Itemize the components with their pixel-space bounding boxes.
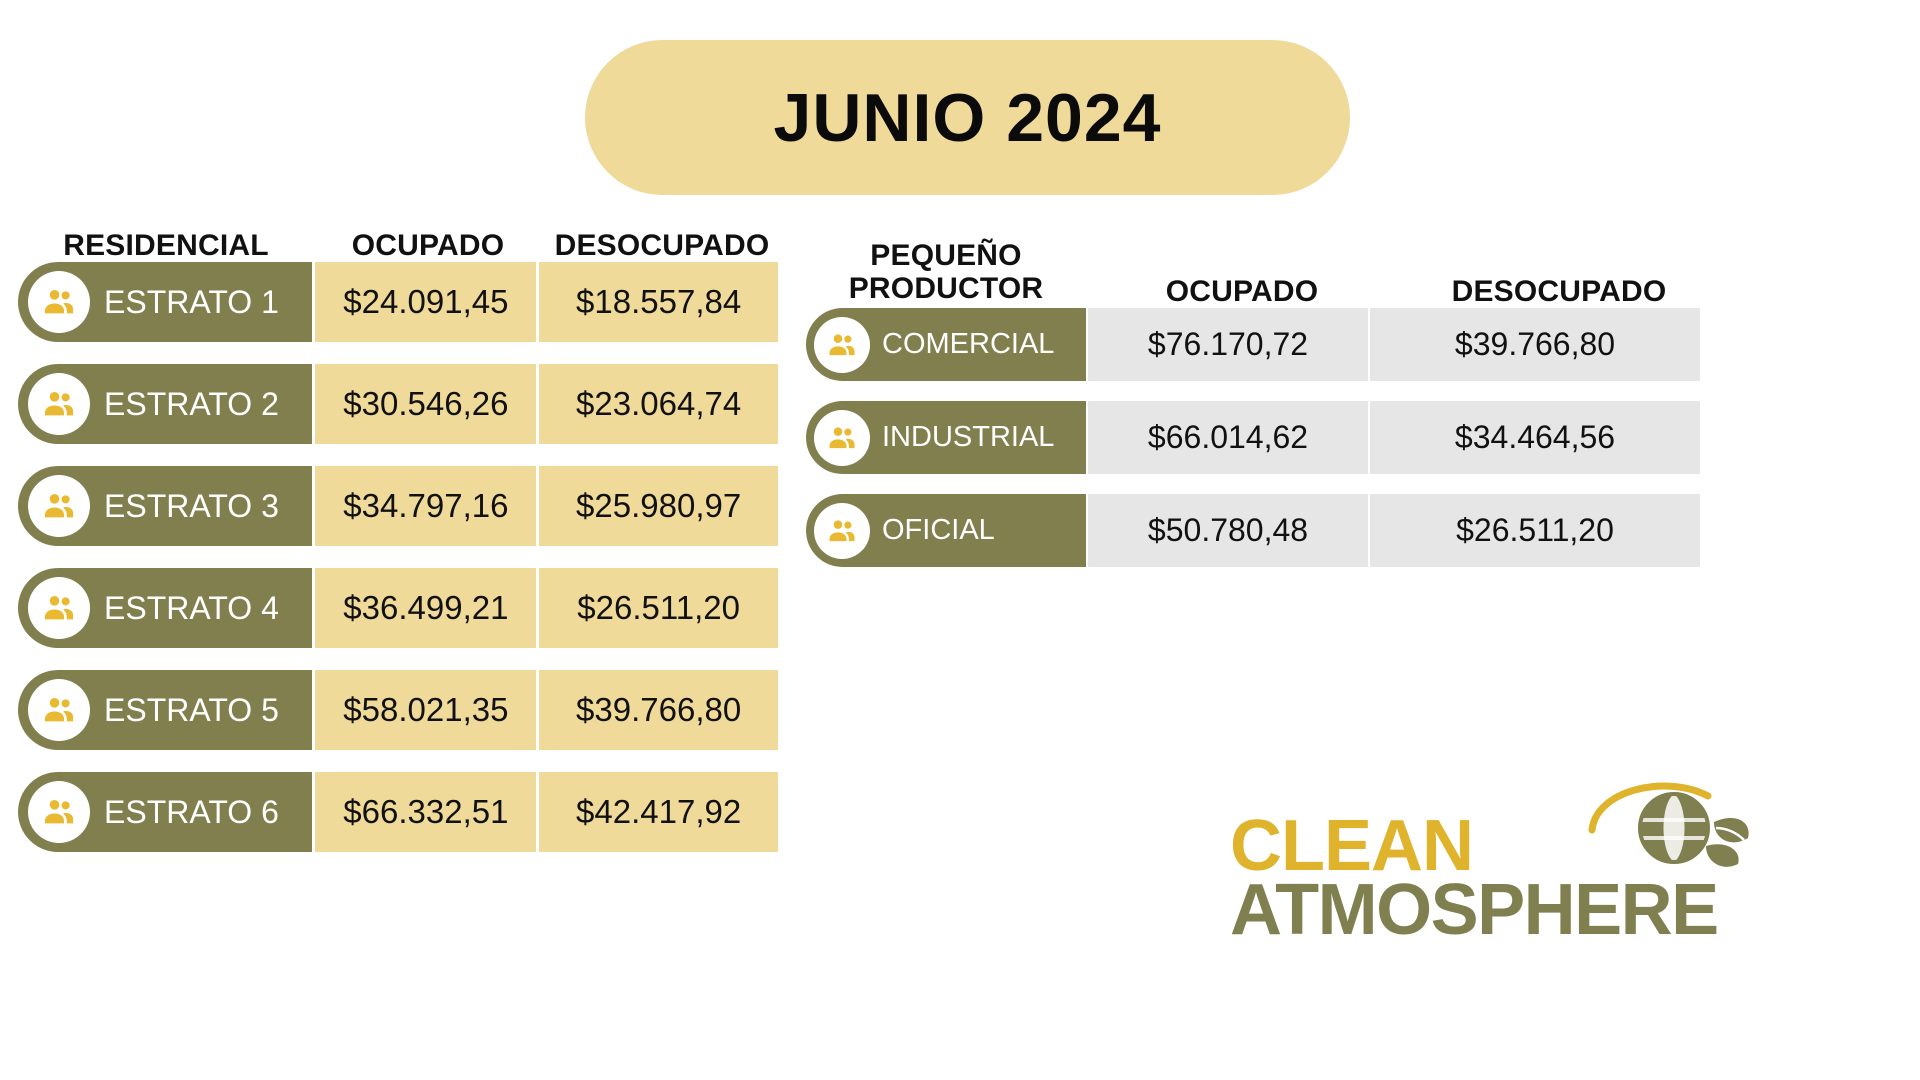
residential-table: RESIDENCIAL OCUPADO DESOCUPADO ESTRATO 1… xyxy=(18,198,778,874)
desocupado-value: $18.557,84 xyxy=(539,262,778,342)
ocupado-value: $24.091,45 xyxy=(315,262,536,342)
row-label-pill[interactable]: OFICIAL xyxy=(806,494,1086,567)
users-icon xyxy=(28,679,90,741)
header-desocupado-right: DESOCUPADO xyxy=(1394,276,1724,308)
table-row[interactable]: OFICIAL $50.780,48 $26.511,20 xyxy=(806,494,1904,567)
ocupado-value: $50.780,48 xyxy=(1088,494,1368,567)
row-label-pill[interactable]: ESTRATO 1 xyxy=(18,262,312,342)
row-label: ESTRATO 3 xyxy=(90,488,312,525)
users-icon xyxy=(814,503,870,559)
table-row[interactable]: ESTRATO 5 $58.021,35 $39.766,80 xyxy=(18,670,778,750)
row-label-pill[interactable]: ESTRATO 3 xyxy=(18,466,312,546)
row-label-pill[interactable]: ESTRATO 2 xyxy=(18,364,312,444)
row-label: OFICIAL xyxy=(870,514,1086,547)
desocupado-value: $25.980,97 xyxy=(539,466,778,546)
row-label-pill[interactable]: ESTRATO 4 xyxy=(18,568,312,648)
small-producer-table: PEQUEÑO PRODUCTOR OCUPADO DESOCUPADO COM… xyxy=(806,198,1904,587)
ocupado-value: $58.021,35 xyxy=(315,670,536,750)
users-icon xyxy=(814,410,870,466)
row-label: INDUSTRIAL xyxy=(870,421,1086,454)
desocupado-value: $23.064,74 xyxy=(539,364,778,444)
row-label-pill[interactable]: COMERCIAL xyxy=(806,308,1086,381)
header-desocupado-left: DESOCUPADO xyxy=(542,230,782,262)
users-icon xyxy=(28,781,90,843)
brand-logo: CLEAN ATMOSPHERE xyxy=(1230,812,1750,972)
globe-leaf-icon xyxy=(1556,770,1756,888)
row-label-pill[interactable]: ESTRATO 6 xyxy=(18,772,312,852)
users-icon xyxy=(28,373,90,435)
row-label-pill[interactable]: INDUSTRIAL xyxy=(806,401,1086,474)
page-title: JUNIO 2024 xyxy=(774,84,1162,152)
users-icon xyxy=(28,475,90,537)
ocupado-value: $66.014,62 xyxy=(1088,401,1368,474)
table-row[interactable]: ESTRATO 2 $30.546,26 $23.064,74 xyxy=(18,364,778,444)
ocupado-value: $66.332,51 xyxy=(315,772,536,852)
header-ocupado-left: OCUPADO xyxy=(317,230,539,262)
row-label: ESTRATO 6 xyxy=(90,794,312,831)
title-banner: JUNIO 2024 xyxy=(585,40,1350,195)
header-pequeno-productor: PEQUEÑO PRODUCTOR xyxy=(806,239,1086,306)
row-label: ESTRATO 2 xyxy=(90,386,312,423)
ocupado-value: $30.546,26 xyxy=(315,364,536,444)
ocupado-value: $76.170,72 xyxy=(1088,308,1368,381)
header-pequeno-productor-line1: PEQUEÑO xyxy=(806,239,1086,273)
users-icon xyxy=(28,577,90,639)
desocupado-value: $42.417,92 xyxy=(539,772,778,852)
desocupado-value: $34.464,56 xyxy=(1370,401,1700,474)
desocupado-value: $26.511,20 xyxy=(1370,494,1700,567)
ocupado-value: $34.797,16 xyxy=(315,466,536,546)
users-icon xyxy=(28,271,90,333)
residential-table-header-row: RESIDENCIAL OCUPADO DESOCUPADO xyxy=(18,198,778,262)
row-label: ESTRATO 5 xyxy=(90,692,312,729)
desocupado-value: $39.766,80 xyxy=(539,670,778,750)
infographic-root: JUNIO 2024 RESIDENCIAL OCUPADO DESOCUPAD… xyxy=(0,0,1920,1080)
table-row[interactable]: ESTRATO 3 $34.797,16 $25.980,97 xyxy=(18,466,778,546)
row-label-pill[interactable]: ESTRATO 5 xyxy=(18,670,312,750)
table-row[interactable]: ESTRATO 6 $66.332,51 $42.417,92 xyxy=(18,772,778,852)
table-row[interactable]: ESTRATO 4 $36.499,21 $26.511,20 xyxy=(18,568,778,648)
small-producer-header-row: PEQUEÑO PRODUCTOR OCUPADO DESOCUPADO xyxy=(806,198,1904,308)
desocupado-value: $26.511,20 xyxy=(539,568,778,648)
table-row[interactable]: ESTRATO 1 $24.091,45 $18.557,84 xyxy=(18,262,778,342)
users-icon xyxy=(814,317,870,373)
header-residencial: RESIDENCIAL xyxy=(18,230,314,262)
row-label: COMERCIAL xyxy=(870,328,1086,361)
desocupado-value: $39.766,80 xyxy=(1370,308,1700,381)
header-pequeno-productor-line2: PRODUCTOR xyxy=(806,272,1086,306)
table-row[interactable]: COMERCIAL $76.170,72 $39.766,80 xyxy=(806,308,1904,381)
row-label: ESTRATO 1 xyxy=(90,284,312,321)
header-ocupado-right: OCUPADO xyxy=(1102,276,1382,308)
ocupado-value: $36.499,21 xyxy=(315,568,536,648)
row-label: ESTRATO 4 xyxy=(90,590,312,627)
table-row[interactable]: INDUSTRIAL $66.014,62 $34.464,56 xyxy=(806,401,1904,474)
